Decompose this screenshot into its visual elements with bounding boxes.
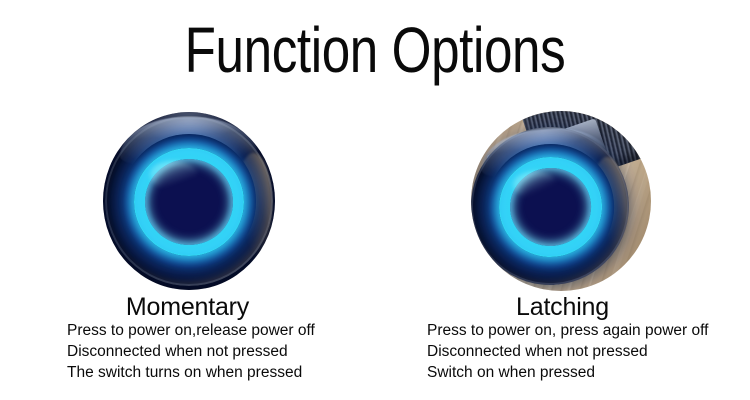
led-ring-highlight [511,169,557,199]
option-title-momentary: Momentary [0,293,375,321]
latching-led-push-button-photo [471,111,651,291]
option-title-latching: Latching [375,293,750,321]
led-ring-highlight [150,161,197,190]
momentary-led-push-button-photo [103,112,275,290]
description-line: Switch on when pressed [427,362,708,383]
option-description-momentary: Press to power on,release power off Disc… [67,320,315,383]
description-line: The switch turns on when pressed [67,362,315,383]
button-metal-head [105,116,274,287]
description-line: Disconnected when not pressed [427,341,708,362]
led-ring-glow [135,149,243,255]
option-description-latching: Press to power on, press again power off… [427,320,708,383]
page-title: Function Options [75,14,675,86]
option-column-latching: Latching Press to power on, press again … [375,108,750,400]
led-ring-indicator [134,148,244,256]
option-column-momentary: Momentary Press to power on,release powe… [0,108,375,400]
description-line: Press to power on, press again power off [427,320,708,341]
description-line: Disconnected when not pressed [67,341,315,362]
description-line: Press to power on,release power off [67,320,315,341]
